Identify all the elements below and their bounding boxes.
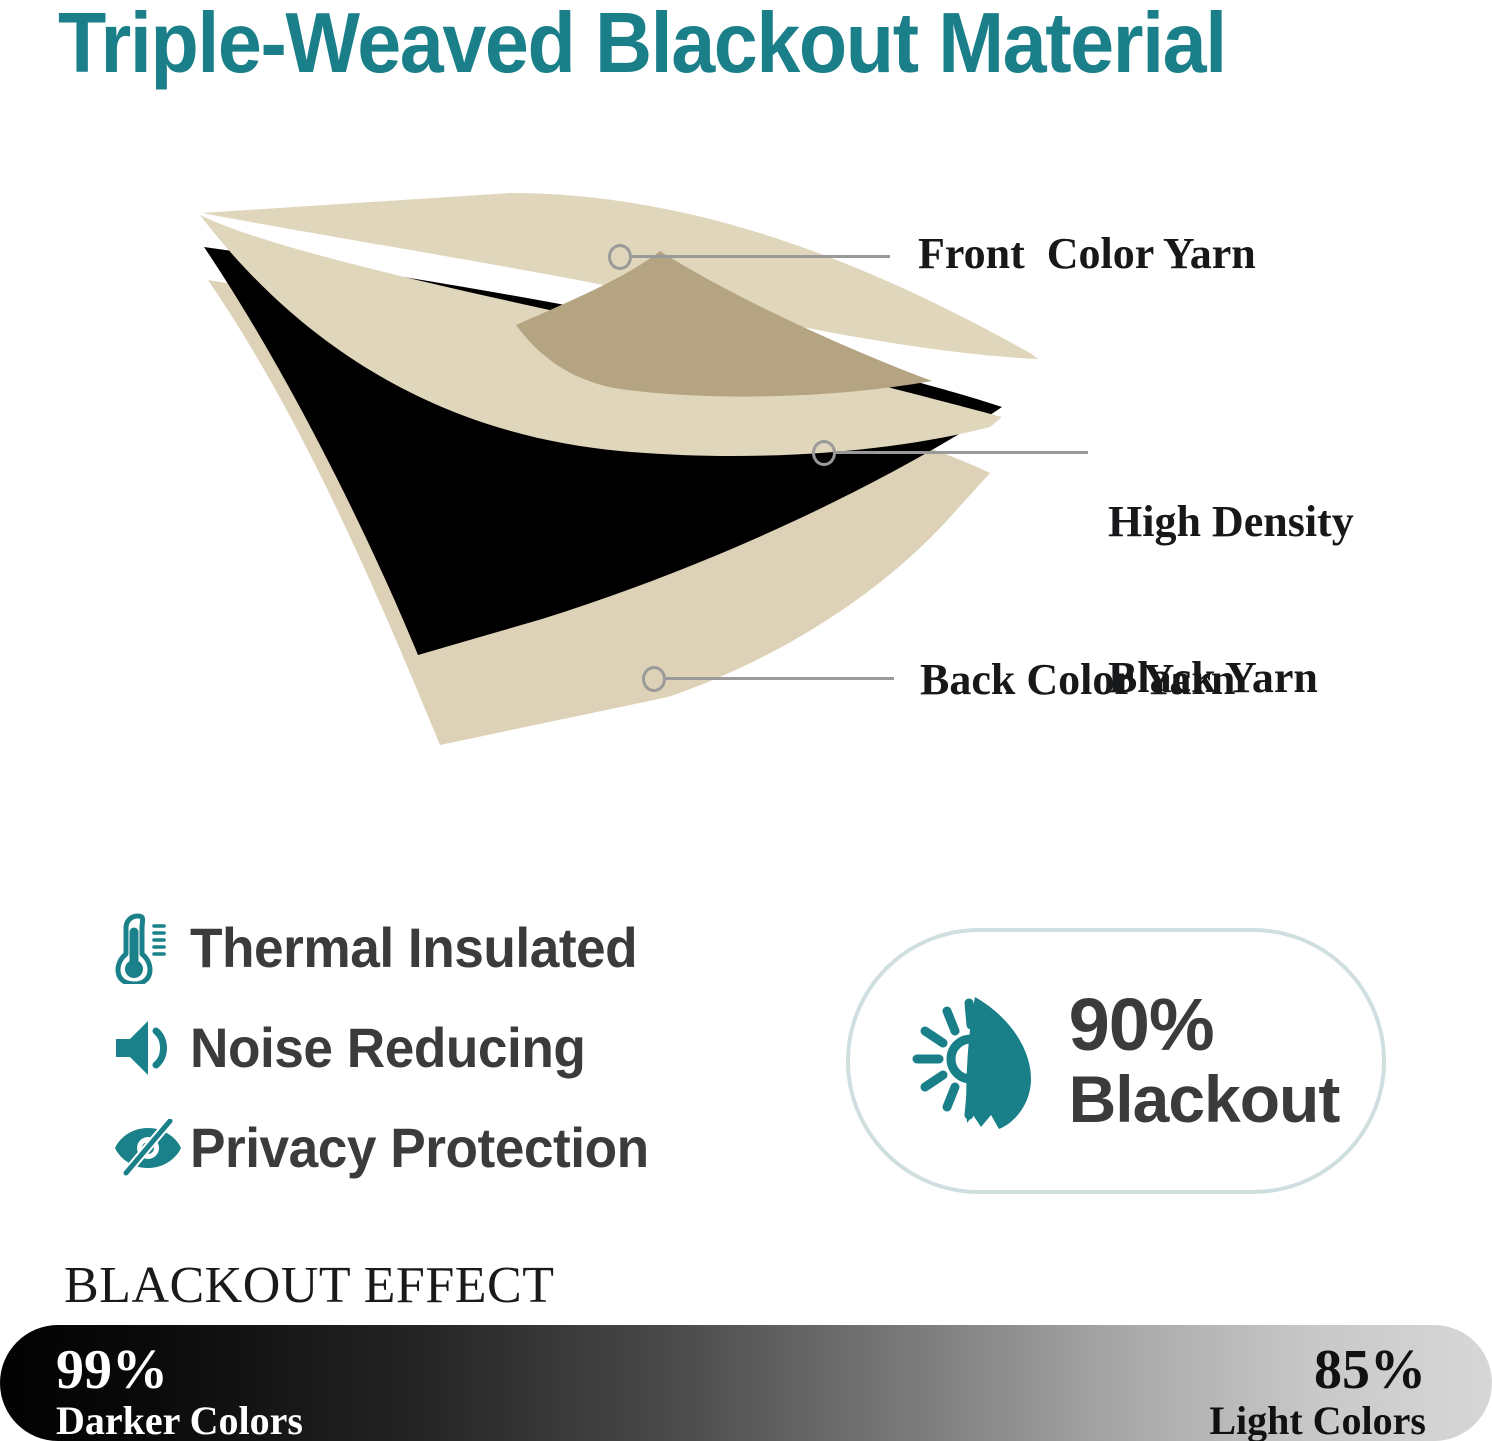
gradient-bar-left-caption: Darker Colors [56, 1399, 303, 1441]
callout-label-back: Back Color Yarn [920, 654, 1235, 706]
thermometer-icon [112, 912, 190, 984]
gradient-bar-right-percent: 85% [1209, 1341, 1426, 1399]
callout-label-black: High Density Black Yarn [1108, 392, 1354, 808]
callout-marker-black [812, 440, 836, 466]
sun-blocked-icon [893, 981, 1063, 1141]
feature-label-thermal: Thermal Insulated [190, 917, 637, 979]
feature-list: Thermal Insulated Noise Reducing [112, 898, 792, 1198]
blackout-badge: 90% Blackout [846, 928, 1386, 1194]
blackout-gradient-bar: 99% Darker Colors 85% Light Colors [0, 1325, 1492, 1441]
gradient-bar-left-percent: 99% [56, 1341, 303, 1399]
badge-percent: 90% [1069, 987, 1214, 1063]
gradient-bar-right-caption: Light Colors [1209, 1399, 1426, 1441]
callout-label-black-line1: High Density [1108, 496, 1354, 548]
callout-leader-front [632, 255, 890, 258]
infographic-page: Triple-Weaved Blackout Material Front Co… [0, 0, 1492, 1441]
feature-item-noise: Noise Reducing [112, 998, 792, 1098]
callout-leader-black [836, 451, 1088, 454]
feature-label-privacy: Privacy Protection [190, 1117, 649, 1179]
callout-label-front: Front Color Yarn [918, 228, 1256, 280]
callout-leader-back [666, 677, 894, 680]
badge-label: Blackout [1069, 1063, 1340, 1135]
feature-item-privacy: Privacy Protection [112, 1098, 792, 1198]
callout-marker-front [608, 244, 632, 270]
page-title: Triple-Weaved Blackout Material [58, 0, 1360, 92]
gradient-bar-left-group: 99% Darker Colors [56, 1341, 303, 1441]
badge-text-group: 90% Blackout [1069, 987, 1340, 1135]
gradient-bar-right-group: 85% Light Colors [1209, 1341, 1426, 1441]
callout-marker-back [642, 666, 666, 692]
eye-slash-icon [112, 1119, 190, 1177]
blackout-effect-heading: BLACKOUT EFFECT [64, 1258, 554, 1314]
feature-item-thermal: Thermal Insulated [112, 898, 792, 998]
speaker-icon [112, 1017, 190, 1079]
feature-label-noise: Noise Reducing [190, 1017, 585, 1079]
